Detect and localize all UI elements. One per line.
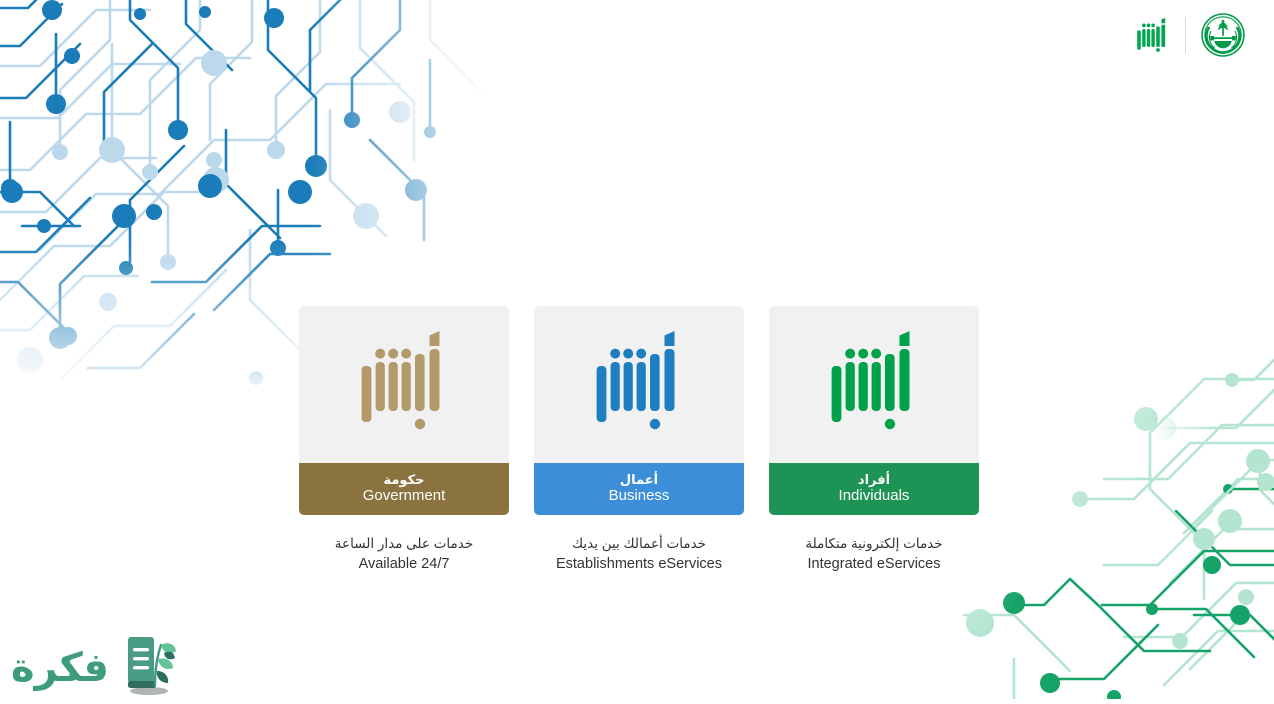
ministry-of-interior-emblem[interactable]	[1200, 12, 1246, 58]
card-captions: خدمات على مدار الساعة Available 24/7 خدم…	[299, 534, 979, 575]
card-art-individuals	[769, 306, 979, 463]
caption-en: Available 24/7	[299, 554, 509, 575]
service-card-individuals[interactable]: أفراد Individuals	[769, 306, 979, 515]
fikra-wordmark: فكرة	[4, 633, 116, 695]
card-label-en: Business	[609, 488, 670, 505]
brand-divider	[1185, 17, 1186, 53]
card-label-en: Individuals	[839, 488, 910, 505]
caption-en: Establishments eServices	[534, 554, 744, 575]
card-banner-business[interactable]: أعمال Business	[534, 463, 744, 515]
svg-text:فكرة: فكرة	[11, 645, 109, 691]
brand-row	[1131, 12, 1246, 58]
book-plant-icon	[120, 631, 178, 697]
service-card-business[interactable]: أعمال Business	[534, 306, 744, 515]
card-label-ar: حكومة	[383, 473, 424, 488]
page-root: حكومة Government	[0, 0, 1274, 699]
card-art-government	[299, 306, 509, 463]
caption-government: خدمات على مدار الساعة Available 24/7	[299, 534, 509, 575]
caption-business: خدمات أعمالك بين يديك Establishments eSe…	[534, 534, 744, 575]
service-card-government[interactable]: حكومة Government	[299, 306, 509, 515]
page-header	[0, 0, 1274, 74]
card-banner-government[interactable]: حكومة Government	[299, 463, 509, 515]
card-banner-individuals[interactable]: أفراد Individuals	[769, 463, 979, 515]
card-label-ar: أفراد	[858, 473, 890, 488]
card-label-ar: أعمال	[620, 473, 658, 488]
card-art-business	[534, 306, 744, 463]
caption-ar: خدمات على مدار الساعة	[299, 534, 509, 554]
caption-ar: خدمات أعمالك بين يديك	[534, 534, 744, 554]
absher-logo-individuals	[829, 329, 919, 441]
caption-individuals: خدمات إلكترونية متكاملة Integrated eServ…	[769, 534, 979, 575]
circuit-pattern-right-edge	[1154, 330, 1274, 530]
absher-logo-government	[359, 329, 449, 441]
circuit-pattern-bottom-right	[954, 369, 1274, 699]
service-card-deck: حكومة Government	[299, 306, 979, 515]
absher-logo[interactable]	[1131, 15, 1171, 55]
fikra-watermark: فكرة	[4, 631, 178, 697]
caption-ar: خدمات إلكترونية متكاملة	[769, 534, 979, 554]
caption-en: Integrated eServices	[769, 554, 979, 575]
absher-logo-business	[594, 329, 684, 441]
card-label-en: Government	[363, 488, 446, 505]
